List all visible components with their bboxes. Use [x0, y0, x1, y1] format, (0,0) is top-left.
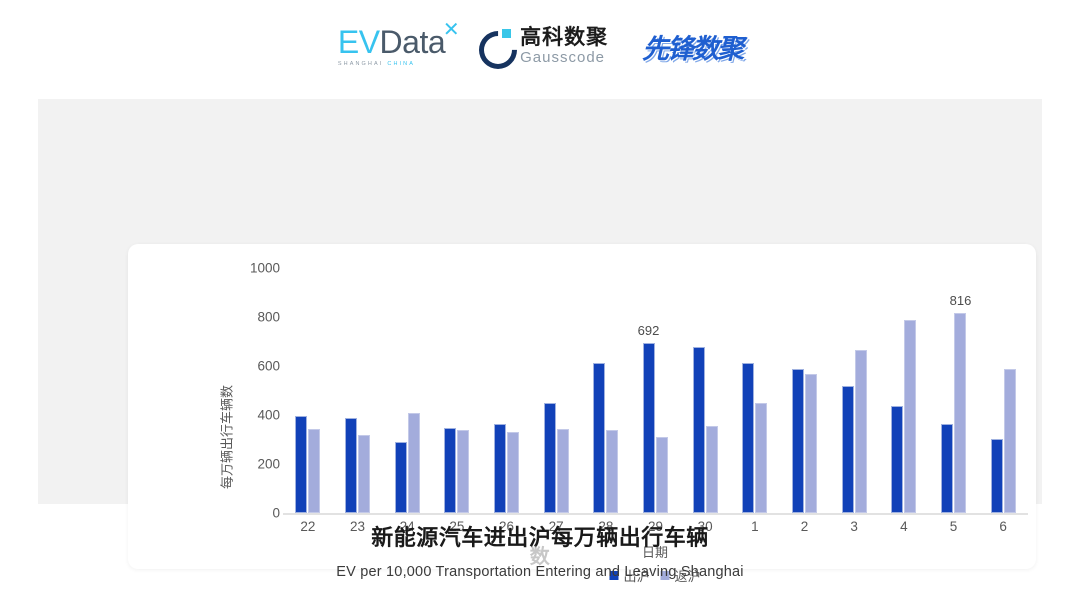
bar-fanhu[interactable]: [408, 413, 420, 513]
bar-group: [283, 268, 333, 513]
gausscode-chinese-text: 高科数聚: [520, 27, 608, 48]
gauss-circle-icon: [479, 29, 513, 63]
bar-group: [333, 268, 383, 513]
bar-group: [432, 268, 482, 513]
y-axis-tick-label: 0: [234, 506, 280, 521]
gausscode-english-text: Gausscode: [520, 50, 608, 65]
bar-fanhu[interactable]: [656, 437, 668, 513]
logo-row: EVData ✕ SHANGHAI CHINA 高科数聚 Gausscode 先…: [0, 0, 1080, 92]
x-mark-icon: ✕: [443, 20, 459, 40]
evdata-subtitle: SHANGHAI CHINA: [338, 61, 415, 67]
evdata-ev-text: EV: [338, 26, 380, 58]
bar-chuhu[interactable]: [444, 428, 456, 514]
y-axis-title: 每万辆出行车辆数: [217, 385, 236, 489]
bar-fanhu[interactable]: [805, 374, 817, 513]
bar-series-container: [283, 268, 1028, 513]
bar-fanhu[interactable]: [358, 435, 370, 513]
bar-group: [382, 268, 432, 513]
bar-group: [879, 268, 929, 513]
bar-chuhu[interactable]: [693, 347, 705, 513]
evdata-subtitle-shanghai: SHANGHAI: [338, 61, 384, 67]
bar-group: [631, 268, 681, 513]
gausscode-wordmark: 高科数聚 Gausscode: [520, 27, 608, 65]
bar-chuhu[interactable]: [494, 424, 506, 513]
evdata-logo: EVData ✕ SHANGHAI CHINA: [338, 26, 445, 67]
bar-group: [829, 268, 879, 513]
y-axis-tick-label: 200: [234, 457, 280, 472]
bar-chuhu[interactable]: [891, 406, 903, 513]
gausscode-logo: 高科数聚 Gausscode: [479, 27, 608, 65]
evdata-wordmark: EVData ✕: [338, 26, 445, 58]
bar-fanhu[interactable]: [1004, 369, 1016, 513]
bar-fanhu[interactable]: [706, 426, 718, 513]
bar-chuhu[interactable]: [295, 416, 307, 513]
bar-fanhu[interactable]: [457, 430, 469, 513]
bar-group: [482, 268, 532, 513]
bar-group: [780, 268, 830, 513]
bar-chuhu[interactable]: [643, 343, 655, 513]
bar-value-label: 692: [638, 323, 660, 338]
y-axis-tick-label: 1000: [234, 261, 280, 276]
evdata-data-text: Data: [380, 26, 446, 58]
y-axis-tick-label: 600: [234, 359, 280, 374]
bar-chuhu[interactable]: [941, 424, 953, 513]
bar-fanhu[interactable]: [755, 403, 767, 513]
bar-fanhu[interactable]: [855, 350, 867, 513]
bar-group: [680, 268, 730, 513]
bar-chuhu[interactable]: [345, 418, 357, 513]
bar-chuhu[interactable]: [792, 369, 804, 513]
bar-group: [581, 268, 631, 513]
page-title-overlay-artifact: 数: [530, 540, 551, 569]
bar-chuhu[interactable]: [842, 386, 854, 513]
bar-chuhu[interactable]: [593, 363, 605, 513]
bar-chuhu[interactable]: [991, 439, 1003, 513]
chart-panel-background: 每万辆出行车辆数 02004006008001000 日期 出沪 返沪 2223…: [38, 99, 1042, 504]
y-axis-tick-label: 800: [234, 310, 280, 325]
bar-chuhu[interactable]: [395, 442, 407, 513]
bar-group: [730, 268, 780, 513]
xianfeng-shuju-logo: 先锋数聚: [642, 27, 742, 66]
bar-group: [531, 268, 581, 513]
y-axis-tick-label: 400: [234, 408, 280, 423]
bar-group: [978, 268, 1028, 513]
bar-fanhu[interactable]: [606, 430, 618, 513]
x-axis-line: [283, 513, 1028, 515]
page-title: 新能源汽车进出沪每万辆出行车辆 数: [0, 520, 1080, 552]
bar-chuhu[interactable]: [544, 403, 556, 513]
bar-fanhu[interactable]: [557, 429, 569, 513]
bar-fanhu[interactable]: [954, 313, 966, 513]
evdata-subtitle-china: CHINA: [387, 61, 415, 67]
bar-fanhu[interactable]: [904, 320, 916, 513]
footer-block: 新能源汽车进出沪每万辆出行车辆 数 EV per 10,000 Transpor…: [0, 520, 1080, 580]
bar-value-label: 816: [950, 293, 972, 308]
bar-fanhu[interactable]: [507, 432, 519, 513]
bar-chuhu[interactable]: [742, 363, 754, 513]
bar-fanhu[interactable]: [308, 429, 320, 513]
